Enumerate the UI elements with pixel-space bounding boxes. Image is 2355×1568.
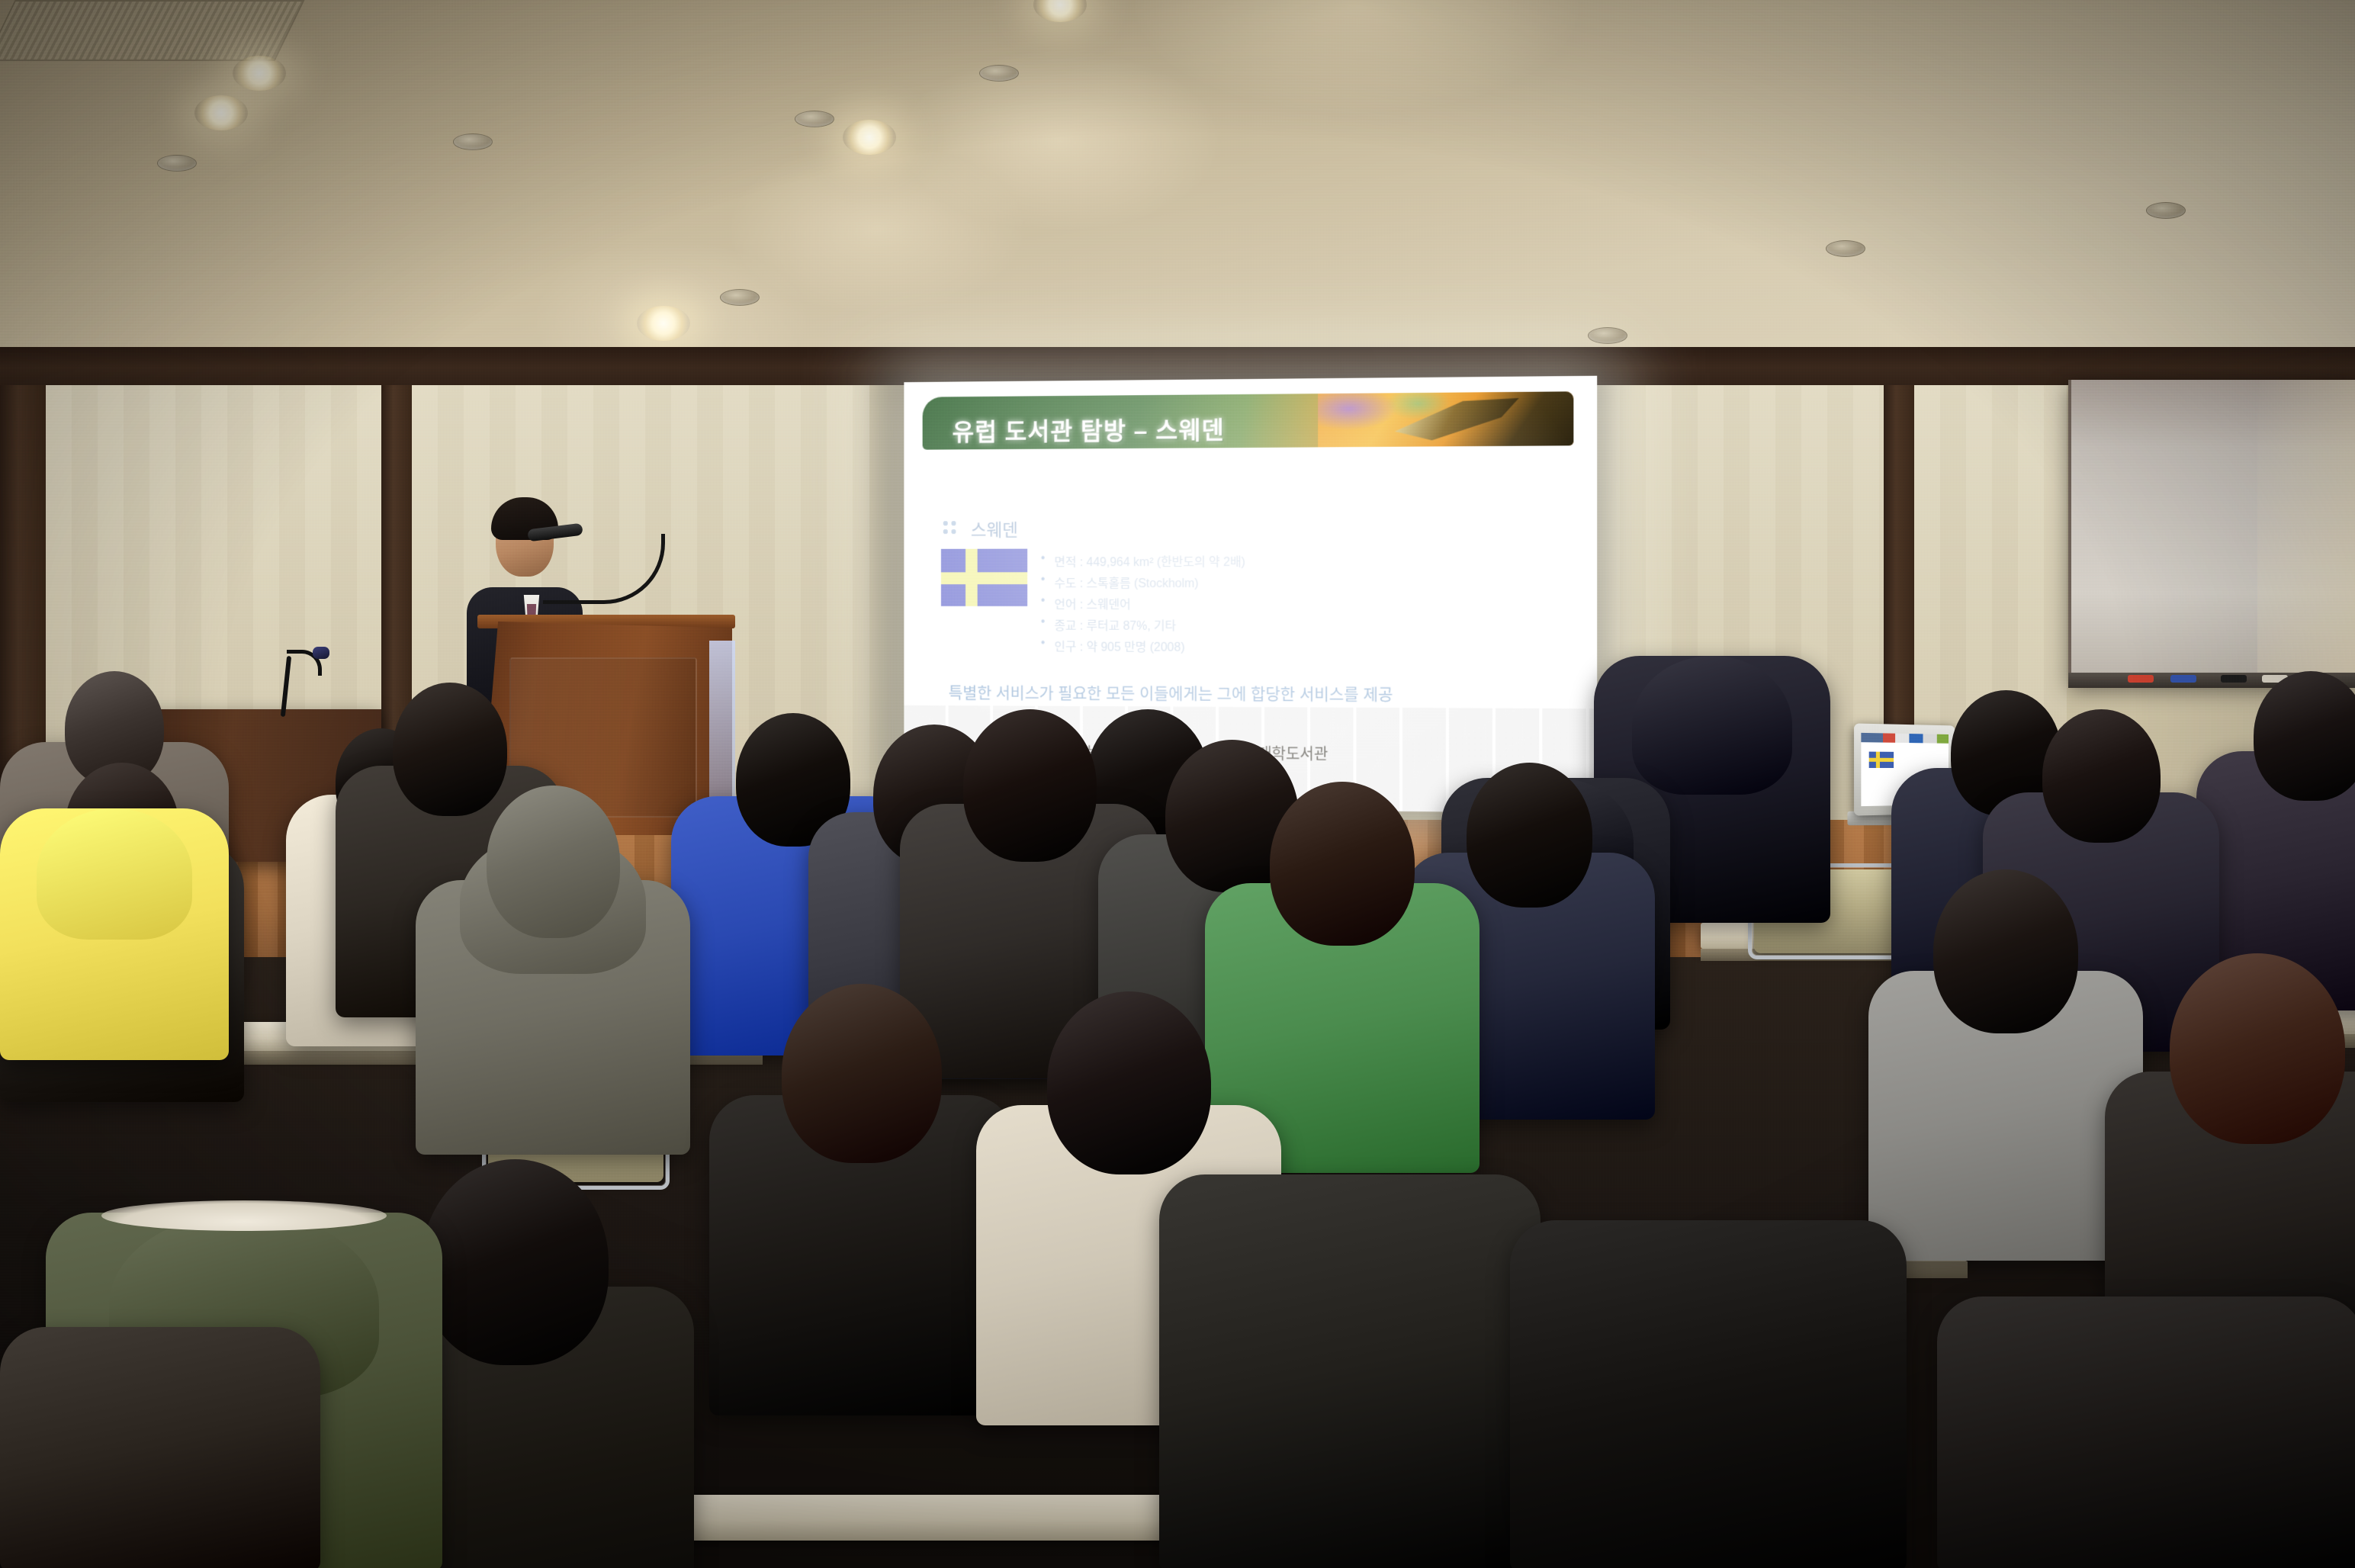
downlight-10	[979, 65, 1019, 82]
slide-bullet-4: 종교 : 루터교 87%, 기타	[1054, 615, 1176, 634]
downlight-3	[843, 120, 896, 155]
downlight-8	[720, 289, 760, 306]
downlight-11	[1826, 240, 1865, 257]
attendee-long-hair-mid-head	[963, 709, 1097, 862]
attendee-far-right-b-head	[2254, 671, 2355, 801]
downlight-9	[795, 111, 834, 127]
attendee-ponytail-right-head	[1047, 991, 1211, 1174]
sweden-flag	[941, 549, 1027, 606]
attendee-white-headband-head	[1467, 763, 1592, 908]
downlight-12	[2146, 202, 2186, 219]
slide-bullet-3: 언어 : 스웨덴어	[1054, 594, 1130, 612]
whiteboard-glare	[2257, 380, 2355, 685]
attendee-bottom-left-body	[0, 1327, 320, 1568]
laptop-browser-toolbar[interactable]	[1861, 733, 1949, 744]
slide-bullet-5: 인구 : 약 905 만명 (2008)	[1054, 637, 1184, 655]
slide-title-banner: 유럽 도서관 탐방 – 스웨덴	[923, 391, 1574, 449]
desk-microphone-head	[313, 647, 329, 659]
attendee-yellow-hood-hood	[37, 808, 192, 940]
section-bullet-icon	[943, 520, 957, 535]
attendee-black-front-head	[422, 1159, 609, 1365]
slide-title: 유럽 도서관 탐방 – 스웨덴	[953, 411, 1225, 448]
slide-note-highlight: 특별한 서비스가 필요한 모든 이들에게는 그에 합당한 서비스를 제공	[949, 683, 1580, 707]
attendee-dark-hood-right-hood	[1632, 656, 1793, 795]
attendee-grey-sweater-r-head	[1933, 869, 2078, 1033]
attendee-black-foreground-body	[1510, 1220, 1907, 1568]
slide-note-line-1: 특별한 서비스가 필요한 모든 이들에게는 그에	[949, 684, 1247, 703]
ceiling-air-vent	[0, 0, 305, 61]
downlight-13	[1588, 327, 1627, 344]
attendee-brown-hair-r-head	[2170, 953, 2345, 1144]
slide-bullet-1: 면적 : 449,964 km² (한반도의 약 2배)	[1054, 551, 1245, 570]
attendee-grey-hoodie-head	[487, 786, 620, 938]
ceiling	[0, 0, 2355, 358]
attendee-bottom-right-body	[1937, 1296, 2355, 1568]
attendee-row2-girl-head	[393, 683, 507, 816]
marker-blue[interactable]	[2170, 675, 2196, 683]
podium-side-light	[709, 641, 735, 816]
lecture-hall-photo: 유럽 도서관 탐방 – 스웨덴 스웨덴 면적 : 449,964 km² (한반…	[0, 0, 2355, 1568]
downlight-7	[453, 133, 493, 150]
slide-note-line-2: 합당한 서비스를 제공	[1251, 686, 1393, 704]
slide-bullet-2: 수도 : 스톡홀름 (Stockholm)	[1054, 573, 1198, 591]
fountain-pen-nib-icon	[1395, 398, 1519, 441]
downlight-6	[157, 155, 197, 172]
marker-red[interactable]	[2128, 675, 2154, 683]
downlight-4	[194, 95, 248, 130]
laptop-sweden-flag-icon	[1869, 752, 1894, 768]
attendee-green-top-head	[1270, 782, 1415, 946]
marker-black[interactable]	[2221, 675, 2247, 683]
attendee-ponytail-left-head	[782, 984, 942, 1163]
attendee-olive-parka-fur-trim	[101, 1200, 387, 1231]
attendee-far-right-a-head	[2042, 709, 2161, 843]
banner-decorative-image	[1318, 391, 1573, 447]
downlight-1	[233, 56, 286, 91]
attendee-sherpa-front-body	[1159, 1174, 1541, 1568]
downlight-5	[637, 306, 690, 341]
slide-section-heading: 스웨덴	[971, 516, 1018, 541]
